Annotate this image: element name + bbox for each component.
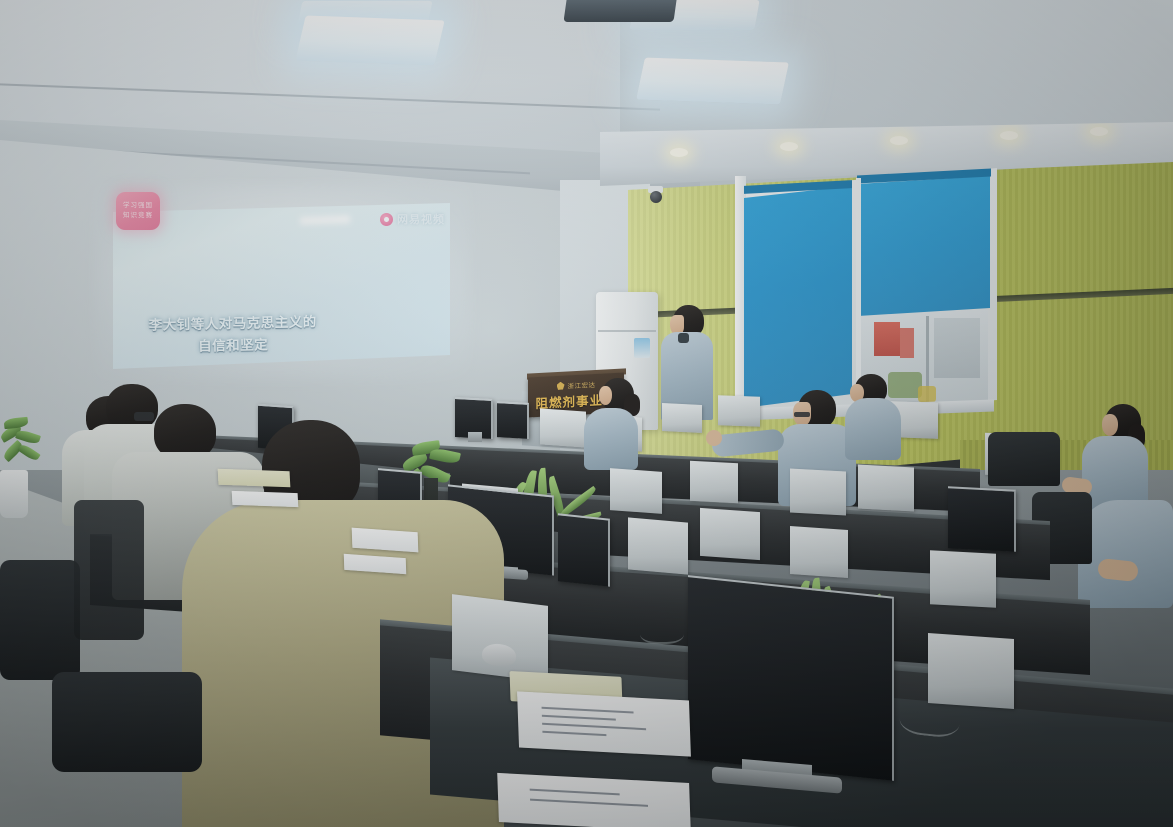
desk-partition [858,465,914,512]
recessed-downlight [1000,131,1018,140]
attendee-hand [706,430,722,446]
monitor [948,486,1016,552]
attendee-body [584,408,638,470]
badge-line-2: 知识竞赛 [123,212,153,220]
attendee-face [599,386,612,405]
outdoor-building [934,318,980,378]
subtitle-line-1: 李大钊等人对马克思主义的 [149,314,317,334]
podium-sign-small-text: 浙江宏达 [568,379,596,390]
company-logo-icon [557,382,565,390]
play-circle-icon [380,213,393,226]
security-camera-icon [650,191,662,203]
desk-partition [452,594,548,682]
attendee-face [1102,414,1118,436]
roller-blind-left[interactable] [744,186,852,408]
video-watermark: 网易视频 [380,211,445,227]
desk-partition [790,469,846,516]
paper-document [497,773,691,827]
desk-partition [700,508,760,560]
photo-scene: 李大钊等人对马克思主义的 自信和坚定 学习强国 知识竞赛 网易视频 浙江宏达 阻… [0,0,1173,827]
desk-partition [540,408,586,447]
monitor [497,401,529,439]
air-conditioner-label [634,338,650,358]
recessed-downlight [890,136,908,145]
attendee-body [845,398,901,460]
ceiling-light-panel [295,16,444,66]
ceiling-projector-unit [563,0,676,22]
desk-partition [790,526,848,578]
outdoor-red-banner [874,322,900,356]
paper-document [517,691,691,756]
desk-partition [930,550,996,607]
glasses-icon [794,412,810,417]
cable [640,620,684,644]
paper-document [232,491,299,507]
chair-back [988,432,1060,486]
chair-back [0,560,80,680]
outdoor-red-banner [900,328,914,358]
air-conditioner-seam [598,330,656,332]
plant-corner [0,418,50,478]
plant-pot-white [0,470,28,518]
desk-partition [610,468,662,514]
roller-blind-right[interactable] [858,176,990,316]
paper-document [218,469,291,488]
desk-partition [662,403,702,433]
outdoor-object [918,386,936,402]
outdoor-foliage [888,372,922,398]
monitor-stand [468,432,482,442]
chair-seat [52,672,202,772]
desk-partition [690,461,738,504]
podium-sign-upper-row: 浙江宏达 [557,379,596,391]
attendee-body [1078,500,1173,608]
projection-corner-badge: 学习强国 知识竞赛 [116,192,160,230]
recessed-downlight [1090,127,1108,136]
projection-subtitle: 李大钊等人对马克思主义的 自信和坚定 [118,313,349,359]
chair-back [74,500,144,640]
monitor [558,513,610,586]
watermark-label: 网易视频 [397,211,445,227]
badge-line-1: 学习强国 [123,202,153,210]
desk-partition [628,517,688,574]
recessed-downlight [670,148,688,157]
desk-partition [928,633,1014,709]
glasses-icon [134,412,154,421]
recessed-downlight [780,142,798,151]
desk-partition [718,395,760,426]
ceiling-light-panel [636,57,789,104]
presenter-collar [678,333,689,343]
monitor [688,575,894,781]
